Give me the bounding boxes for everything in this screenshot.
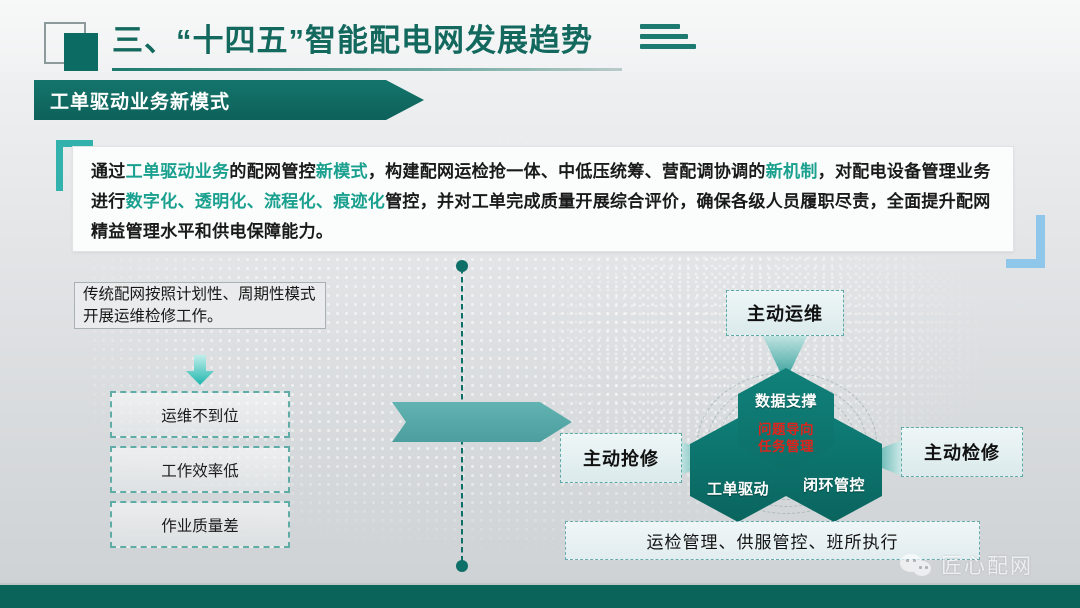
menu-ticks-icon [640, 24, 710, 54]
outcome-box-top: 主动运维 [726, 290, 844, 336]
problem-item-2-label: 工作效率低 [161, 459, 239, 481]
traditional-mode-callout-text: 传统配网按照计划性、周期性模式开展运维检修工作。 [83, 284, 317, 328]
slide-canvas: 三、“十四五”智能配电网发展趋势 工单驱动业务新模式 通过工单驱动业务的配网管控… [0, 0, 1080, 608]
section-banner-label: 工单驱动业务新模式 [50, 87, 230, 114]
footer-bar [0, 585, 1080, 608]
watermark-text: 匠心配网 [941, 550, 1033, 580]
summary-card: 通过工单驱动业务的配网管控新模式，构建配网运检抢一体、中低压统筹、营配调协调的新… [72, 146, 1014, 252]
wechat-logo-icon [900, 552, 934, 578]
problem-item-1-label: 运维不到位 [161, 404, 239, 426]
title-underline [112, 68, 622, 71]
hexagon-left-label: 工单驱动 [707, 478, 769, 499]
hexagon-top-label: 数据支撑 [755, 390, 817, 411]
traditional-mode-callout: 传统配网按照计划性、周期性模式开展运维检修工作。 [74, 282, 326, 329]
funnel-connector-top [760, 330, 810, 372]
problem-item-3-label: 作业质量差 [161, 514, 239, 536]
outcome-box-left-label: 主动抢修 [583, 445, 659, 471]
square-filled-icon [64, 33, 98, 71]
problem-item-2: 工作效率低 [110, 446, 290, 493]
outcome-box-left: 主动抢修 [560, 433, 682, 483]
core-label: 问题导向 任务管理 [748, 421, 824, 455]
right-chevron-banner-icon [392, 402, 572, 442]
page-title: 三、“十四五”智能配电网发展趋势 [112, 18, 593, 64]
section-banner: 工单驱动业务新模式 [34, 80, 424, 120]
hexagon-right-label: 闭环管控 [803, 474, 865, 495]
summary-card-text: 通过工单驱动业务的配网管控新模式，构建配网运检抢一体、中低压统筹、营配调协调的新… [91, 157, 997, 247]
core-label-line1: 问题导向 [748, 421, 824, 438]
outcome-box-right-label: 主动检修 [924, 439, 1000, 465]
outcome-box-top-label: 主动运维 [747, 300, 823, 326]
core-label-line2: 任务管理 [748, 438, 824, 455]
divider-dot-bottom [456, 560, 468, 572]
execution-bar-label: 运检管理、供服管控、班所执行 [647, 528, 899, 553]
problem-item-1: 运维不到位 [110, 391, 290, 438]
problem-item-3: 作业质量差 [110, 501, 290, 548]
watermark: 匠心配网 [900, 548, 1033, 582]
outcome-box-right: 主动检修 [901, 427, 1023, 477]
down-arrow-icon [185, 355, 215, 385]
